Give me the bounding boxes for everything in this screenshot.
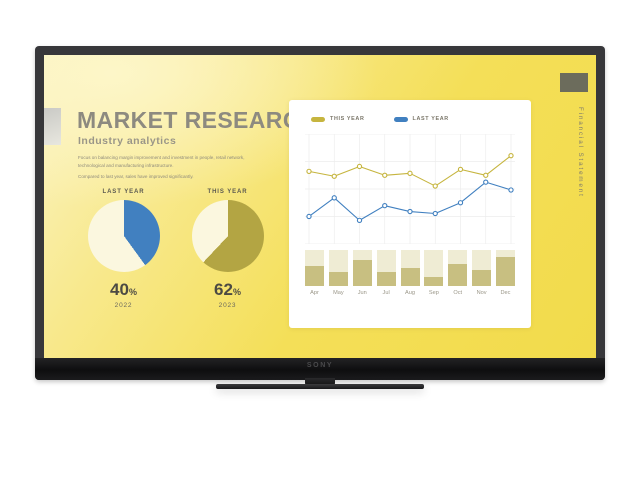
- x-axis-month-labels: AprMayJunJulAugSepOctNovDec: [305, 290, 515, 296]
- display-screen: MARKET RESEARCH Industry analytics Focus…: [44, 55, 596, 358]
- month-label: Jul: [377, 290, 396, 296]
- bar-fill: [329, 272, 348, 286]
- bar-column: [305, 250, 324, 286]
- pie-year: 2023: [180, 302, 275, 309]
- pie-percent: 62%: [180, 281, 275, 298]
- line-chart-plot: [305, 134, 515, 244]
- month-label: Dec: [496, 290, 515, 296]
- bar-column: [448, 250, 467, 286]
- legend-label: THIS YEAR: [330, 116, 365, 122]
- legend-label: LAST YEAR: [413, 116, 449, 122]
- bar-fill: [377, 272, 396, 286]
- pie-caption: THIS YEAR: [180, 189, 275, 195]
- pie-caption: LAST YEAR: [76, 189, 171, 195]
- month-label: Jun: [353, 290, 372, 296]
- bar-fill: [401, 268, 420, 286]
- bar-fill: [353, 260, 372, 286]
- bar-column: [401, 250, 420, 286]
- pie-year: 2022: [76, 302, 171, 309]
- bar-column: [424, 250, 443, 286]
- pie-disc: [88, 200, 160, 272]
- monitor-stand-base: [216, 384, 424, 389]
- bar-column: [496, 250, 515, 286]
- sony-display-monitor: MARKET RESEARCH Industry analytics Focus…: [35, 46, 605, 380]
- side-rail-accent-block: [560, 73, 588, 92]
- bar-column: [353, 250, 372, 286]
- page-title: MARKET RESEARCH: [77, 107, 317, 134]
- pie-percent-symbol: %: [233, 287, 241, 297]
- pie-percent-value: 62: [214, 280, 233, 299]
- bar-fill: [305, 266, 324, 286]
- presentation-slide: MARKET RESEARCH Industry analytics Focus…: [44, 55, 596, 358]
- chart-legend: THIS YEAR LAST YEAR: [311, 116, 449, 122]
- pie-percent-value: 40: [110, 280, 129, 299]
- pie-percent-symbol: %: [129, 287, 137, 297]
- pie-chart-this-year: THIS YEAR 62% 2023: [180, 189, 275, 309]
- monitor-bottom-bezel: SONY: [35, 358, 605, 380]
- pie-chart-last-year: LAST YEAR 40% 2022: [76, 189, 171, 309]
- title-accent-block: [44, 108, 61, 145]
- month-label: Apr: [305, 290, 324, 296]
- legend-item-this-year: THIS YEAR: [311, 116, 365, 122]
- month-label: Nov: [472, 290, 491, 296]
- month-label: Sep: [424, 290, 443, 296]
- bar-chart-plot: [305, 248, 515, 286]
- bar-fill: [496, 257, 515, 286]
- legend-swatch-icon: [311, 117, 325, 122]
- bar-column: [377, 250, 396, 286]
- bar-fill: [472, 270, 491, 286]
- month-label: May: [329, 290, 348, 296]
- page-subtitle: Industry analytics: [78, 135, 176, 147]
- pie-disc: [192, 200, 264, 272]
- pie-percent: 40%: [76, 281, 171, 298]
- bar-fill: [424, 277, 443, 286]
- month-label: Oct: [448, 290, 467, 296]
- month-label: Aug: [401, 290, 420, 296]
- chart-panel: THIS YEAR LAST YEAR AprMayJunJulAugSepOc…: [289, 100, 531, 328]
- side-rail-label: Financial Statement: [577, 107, 584, 198]
- bar-column: [472, 250, 491, 286]
- screenshot-stage: MARKET RESEARCH Industry analytics Focus…: [0, 0, 640, 480]
- body-paragraph-2: Compared to last year, sales have improv…: [78, 173, 258, 181]
- bar-fill: [448, 264, 467, 286]
- sony-brand-logo: SONY: [307, 362, 333, 369]
- legend-item-last-year: LAST YEAR: [394, 116, 449, 122]
- body-paragraph-1: Focus on balancing margin improvement an…: [78, 154, 258, 169]
- legend-swatch-icon: [394, 117, 408, 122]
- bar-column: [329, 250, 348, 286]
